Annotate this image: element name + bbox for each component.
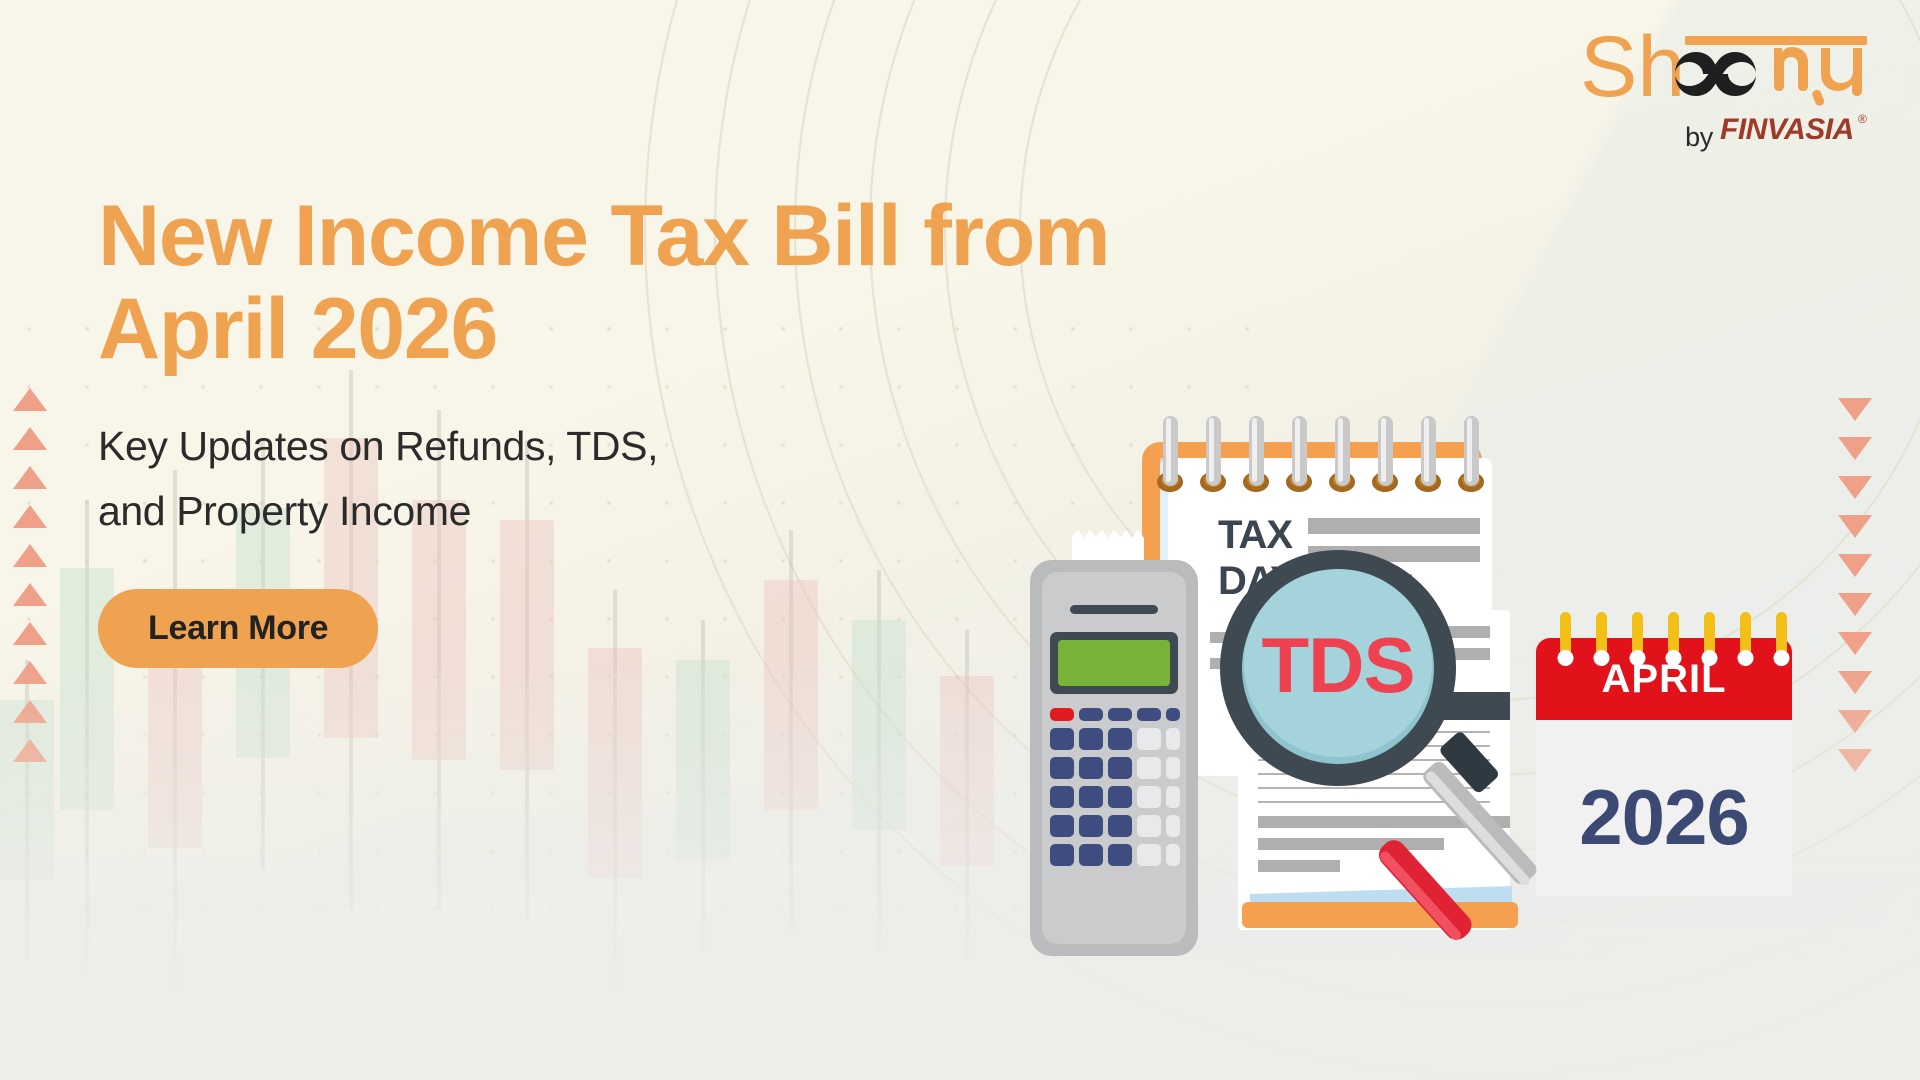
triangle-down-icon — [1838, 476, 1872, 499]
shoonya-wordmark: Sh — [1578, 22, 1878, 114]
logo-by-label: by — [1685, 122, 1713, 153]
headline-line-2: April 2026 — [98, 281, 497, 377]
headline-line-1: New Income Tax Bill from — [98, 188, 1109, 284]
page-title: New Income Tax Bill from April 2026 — [98, 190, 1178, 376]
brand-logo[interactable]: Sh by FINVASIA ® — [1578, 22, 1878, 153]
triangle-down-icon — [1838, 632, 1872, 655]
finvasia-wordmark: FINVASIA ® — [1720, 112, 1872, 146]
logo-byline: by FINVASIA ® — [1578, 112, 1878, 153]
triangle-down-icon — [1838, 554, 1872, 577]
marketing-banner: Sh by FINVASIA ® — [0, 0, 1920, 1080]
decorative-triangles-right — [1838, 398, 1872, 772]
triangle-up-icon — [13, 505, 47, 528]
triangle-down-icon — [1838, 437, 1872, 460]
triangle-up-icon — [13, 544, 47, 567]
triangle-up-icon — [13, 388, 47, 411]
decorative-triangles-left — [13, 388, 47, 762]
svg-text:Sh: Sh — [1580, 22, 1685, 114]
triangle-down-icon — [1838, 398, 1872, 421]
triangle-down-icon — [1838, 749, 1872, 772]
triangle-up-icon — [13, 427, 47, 450]
triangle-up-icon — [13, 661, 47, 684]
triangle-up-icon — [13, 622, 47, 645]
svg-text:®: ® — [1858, 112, 1867, 126]
calendar-illustration: APRIL 2026 — [1536, 612, 1792, 896]
subtitle: Key Updates on Refunds, TDS, and Propert… — [98, 414, 888, 544]
subtitle-line-1: Key Updates on Refunds, TDS, — [98, 423, 658, 469]
triangle-up-icon — [13, 739, 47, 762]
triangle-down-icon — [1838, 710, 1872, 733]
magnifier-tds-label: TDS — [1262, 621, 1415, 709]
subtitle-line-2: and Property Income — [98, 488, 471, 534]
triangle-up-icon — [13, 466, 47, 489]
triangle-down-icon — [1838, 515, 1872, 538]
triangle-up-icon — [13, 700, 47, 723]
triangle-down-icon — [1838, 593, 1872, 616]
triangle-down-icon — [1838, 671, 1872, 694]
learn-more-button[interactable]: Learn More — [98, 589, 378, 668]
svg-text:FINVASIA: FINVASIA — [1720, 113, 1854, 146]
calendar-year-label: 2026 — [1579, 773, 1749, 861]
copy-block: New Income Tax Bill from April 2026 Key … — [98, 190, 1178, 668]
triangle-up-icon — [13, 583, 47, 606]
svg-text:TAX: TAX — [1218, 513, 1293, 557]
